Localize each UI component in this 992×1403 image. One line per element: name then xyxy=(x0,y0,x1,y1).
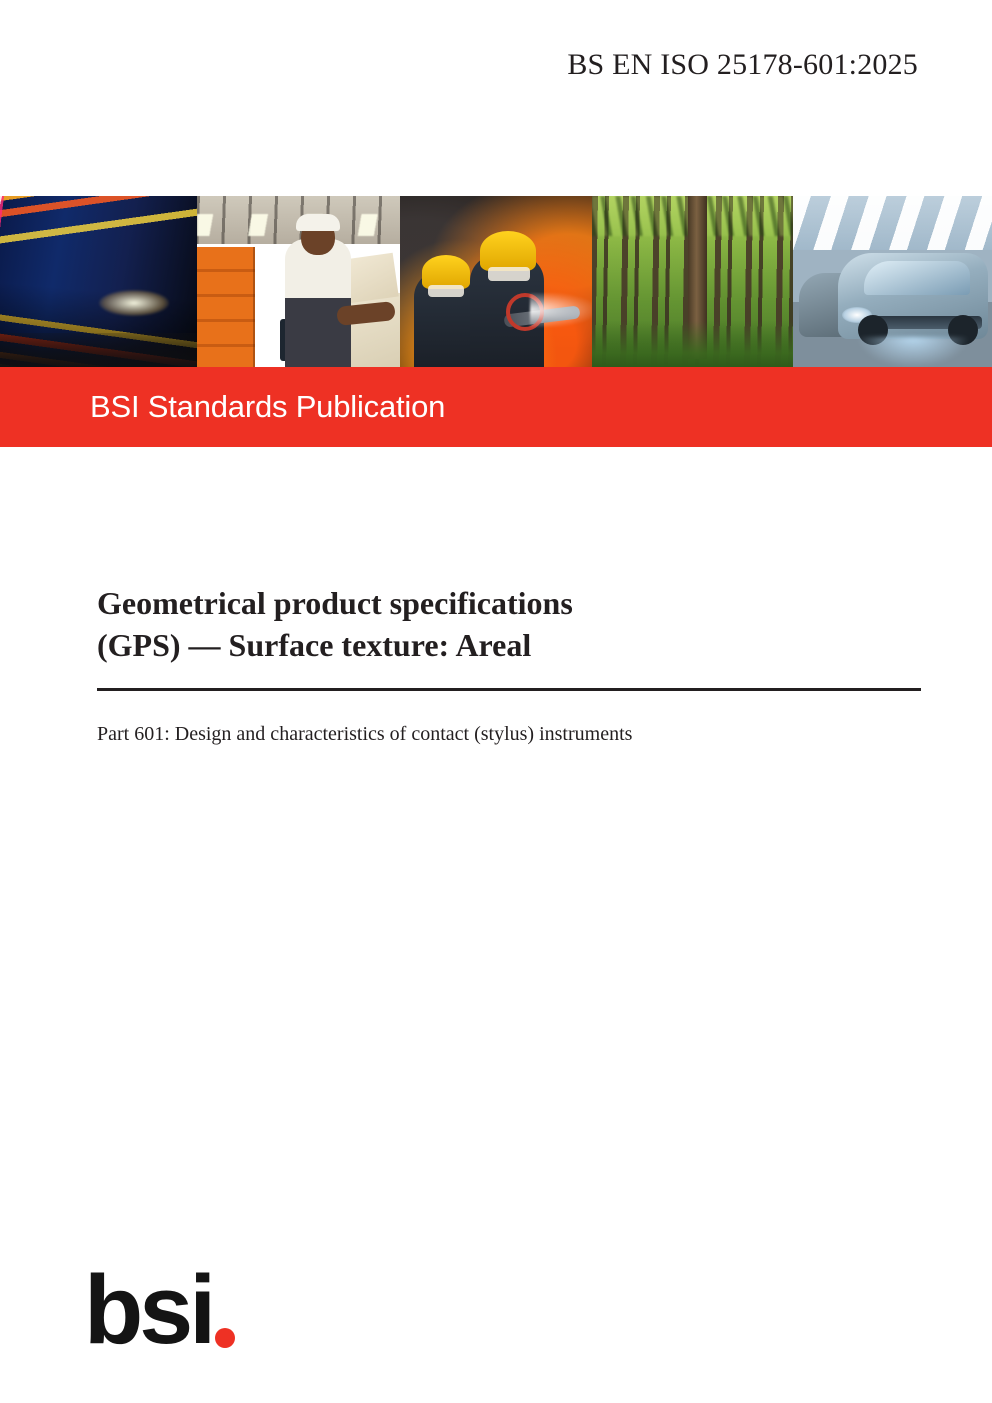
factory-floor-glow xyxy=(858,337,968,367)
worker-cap xyxy=(296,214,340,231)
water-spray xyxy=(530,293,592,327)
document-subtitle: Part 601: Design and characteristics of … xyxy=(97,720,921,748)
document-title-line-1: Geometrical product specifications xyxy=(97,582,921,624)
photo-panel-forest xyxy=(592,196,793,367)
photo-panel-warehouse-logistics xyxy=(197,196,400,367)
title-divider xyxy=(97,688,921,691)
worker-body xyxy=(285,239,351,367)
firefighter-right-visor xyxy=(488,267,530,281)
photo-panel-car-production-line xyxy=(793,196,992,367)
document-number: BS EN ISO 25178-601:2025 xyxy=(0,46,918,84)
banner-label: BSI Standards Publication xyxy=(90,389,445,425)
photo-panel-night-traffic-light-trails xyxy=(0,196,197,367)
firefighter-right-helmet xyxy=(480,231,536,271)
bsi-wordmark: bsi xyxy=(84,1268,212,1352)
foreground-tree-trunk xyxy=(688,196,707,359)
title-block: Geometrical product specifications (GPS)… xyxy=(97,582,921,748)
factory-ceiling-lights xyxy=(793,196,992,250)
bsi-logo: bsi xyxy=(84,1268,235,1352)
photo-panel-firefighters xyxy=(400,196,592,367)
headlight-glow-icon xyxy=(99,290,169,316)
bsi-logo-dot-icon xyxy=(215,1328,235,1348)
firefighter-left-helmet xyxy=(422,255,470,289)
standards-publication-banner: BSI Standards Publication xyxy=(0,367,992,447)
document-title-line-2: (GPS) — Surface texture: Areal xyxy=(97,624,921,666)
car-windshield xyxy=(864,261,970,295)
firefighter-left-visor xyxy=(428,285,464,297)
cover-photo-strip xyxy=(0,196,992,367)
orange-crates xyxy=(197,247,255,367)
